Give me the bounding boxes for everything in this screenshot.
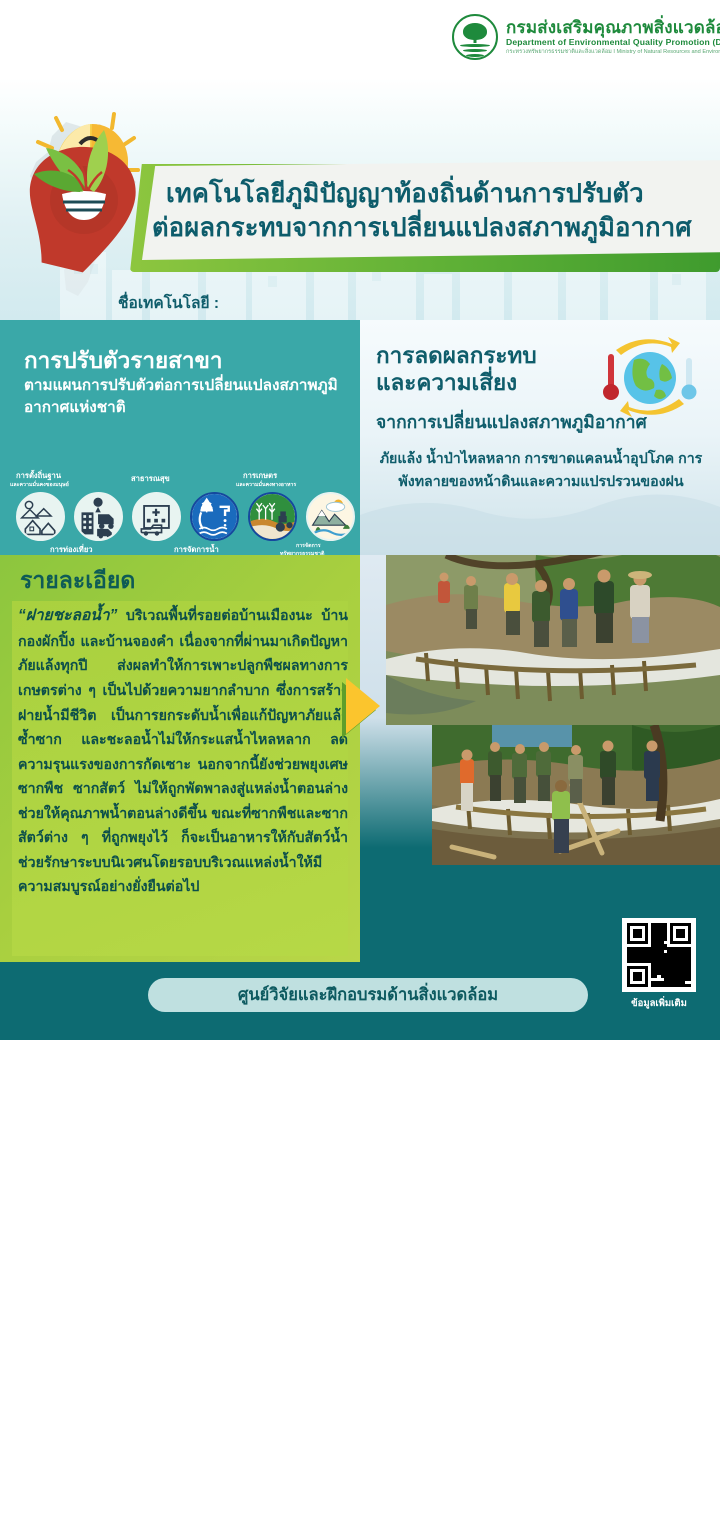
play-triangle-arrow-icon — [346, 678, 380, 734]
hazards-text: ภัยแล้ง น้ำป่าไหลหลาก การขาดแคลนน้ำอุปโภ… — [374, 448, 708, 494]
sector-sublabel-4: และความมั่นคงทางอาหาร — [236, 481, 296, 489]
page-header: กรมส่งเสริมคุณภาพสิ่งแวดล้อม Department … — [0, 0, 720, 78]
deqp-logo: กรมส่งเสริมคุณภาพสิ่งแวดล้อม Department … — [452, 14, 720, 60]
technology-label: ชื่อเทคโนโลยี : — [118, 290, 219, 315]
tree-water-seal-icon — [452, 14, 498, 60]
page-title-line-2: ต่อผลกระทบจากการเปลี่ยนแปลงสภาพภูมิอากาศ — [152, 208, 720, 248]
lightbulb-leaf-map-pin-icon — [22, 108, 162, 293]
check-dam-construction-photo-2 — [432, 725, 720, 865]
sectors-heading: การปรับตัวรายสาขา — [24, 342, 223, 378]
mitigation-heading-line-1: การลดผลกระทบ — [376, 342, 537, 369]
adaptation-sectors-panel: การปรับตัวรายสาขา ตามแผนการปรับตัวต่อการ… — [0, 320, 360, 555]
main-title-plate: เทคโนโลยีภูมิปัญญาท้องถิ่นด้านการปรับตัว… — [120, 160, 720, 272]
mitigation-heading-line-2: และความเสี่ยง — [376, 369, 537, 396]
natural-resources-mountain-icon[interactable] — [306, 492, 355, 541]
details-lead: “ฝายชะลอน้ำ” — [18, 607, 117, 624]
mitigation-heading: การลดผลกระทบ และความเสี่ยง — [376, 342, 537, 397]
details-panel: รายละเอียด “ฝายชะลอน้ำ” บริเวณพื้นที่รอย… — [0, 555, 360, 962]
globe-thermometer-climate-icon — [594, 332, 706, 424]
org-name-english: Department of Environmental Quality Prom… — [506, 38, 720, 47]
details-body-text: บริเวณพื้นที่รอยต่อบ้านเมืองนะ บ้านกองผั… — [18, 608, 348, 895]
ministry-line: กระทรวงทรัพยากรธรรมชาติและสิ่งแวดล้อม I … — [506, 50, 720, 56]
sectors-subheading: ตามแผนการปรับตัวต่อการเปลี่ยนแปลงสภาพภูม… — [24, 375, 344, 418]
sector-label-2: สาธารณสุข — [131, 473, 170, 485]
water-management-tap-icon[interactable] — [190, 492, 239, 541]
sector-sublabel-0: และความมั่นคงของมนุษย์ — [10, 481, 69, 489]
tourism-city-car-icon[interactable] — [74, 492, 123, 541]
agriculture-tractor-icon[interactable] — [248, 492, 297, 541]
org-name-thai: กรมส่งเสริมคุณภาพสิ่งแวดล้อม — [506, 19, 720, 37]
settlement-houses-icon[interactable] — [16, 492, 65, 541]
sector-label-5: การจัดการ — [296, 542, 321, 550]
qr-caption: ข้อมูลเพิ่มเติม — [620, 996, 698, 1011]
sector-icons-row: การตั้งถิ่นฐาน และความมั่นคงของมนุษย์ สา… — [8, 470, 356, 550]
public-health-hospital-icon[interactable] — [132, 492, 181, 541]
details-heading: รายละเอียด — [20, 563, 135, 599]
footer-center-label: ศูนย์วิจัยและฝึกอบรมด้านสิ่งแวดล้อม — [238, 982, 498, 1008]
cold-thermometer-icon — [682, 358, 697, 400]
check-dam-construction-photo-1 — [386, 555, 720, 725]
hot-thermometer-icon — [603, 354, 619, 400]
qr-code-icon[interactable] — [622, 918, 696, 992]
hero-section: เทคโนโลยีภูมิปัญญาท้องถิ่นด้านการปรับตัว… — [0, 78, 720, 320]
mitigation-panel: การลดผลกระทบ และความเสี่ยง จากการเปลี่ยน… — [360, 320, 720, 555]
photo-zone: สถานที่ : บ้านเมืองนะ บ้านกองผักปิ้ง และ… — [360, 555, 720, 962]
footer-center-pill[interactable]: ศูนย์วิจัยและฝึกอบรมด้านสิ่งแวดล้อม — [148, 978, 588, 1012]
details-body: “ฝายชะลอน้ำ” บริเวณพื้นที่รอยต่อบ้านเมือ… — [18, 603, 348, 900]
